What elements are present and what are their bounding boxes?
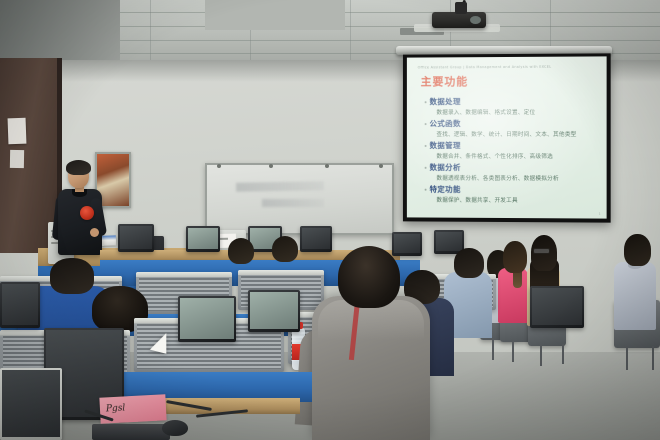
sticker-text: Pgsl xyxy=(106,403,126,414)
student-head xyxy=(454,248,484,278)
slide-content: Office Assistant Group | Data Management… xyxy=(407,56,607,218)
seated-person-head xyxy=(503,241,527,273)
seated-person-head xyxy=(624,234,651,266)
wall-notice-paper-secondary xyxy=(10,150,24,168)
projector-lens-icon xyxy=(470,16,481,24)
slide-section-detail: 查找、逻辑、数学、统计、日期时间、文本、其他类型 xyxy=(436,130,597,138)
monitor xyxy=(392,232,422,256)
monitor xyxy=(248,290,300,332)
whiteboard-erased-writing-secondary xyxy=(262,199,324,207)
slide-section-heading: 数据处理 xyxy=(430,96,461,107)
classroom-photo: Office Assistant Group | Data Management… xyxy=(0,0,660,440)
slide-section: 公式函数 查找、逻辑、数学、统计、日期时间、文本、其他类型 xyxy=(425,118,598,138)
shirt-logo-icon xyxy=(80,206,94,220)
slide-section-detail: 数据录入、数据编辑、格式设置、定位 xyxy=(436,108,597,116)
bullet-icon xyxy=(425,101,427,103)
slide-section-heading: 数据分析 xyxy=(430,162,461,173)
slide-section: 数据处理 数据录入、数据编辑、格式设置、定位 xyxy=(425,96,598,116)
whiteboard-erased-writing xyxy=(236,181,324,192)
computer-mouse[interactable] xyxy=(162,420,188,436)
slide-section-detail: 数据合并、条件格式、个性化排序、高级筛选 xyxy=(436,152,597,160)
student-head xyxy=(338,246,400,308)
monitor xyxy=(118,224,154,252)
bullet-icon xyxy=(425,144,427,146)
bullet-icon xyxy=(425,123,427,125)
monitor xyxy=(178,296,236,342)
slide-header-text: Office Assistant Group | Data Management… xyxy=(418,64,598,69)
monitor xyxy=(530,286,584,328)
monitor xyxy=(0,368,62,440)
student-head xyxy=(50,258,94,294)
keyboard[interactable] xyxy=(92,424,170,440)
seated-person-body xyxy=(614,262,656,330)
slide-section-detail: 数据透视表分析、各类图表分析、数据模拟分析 xyxy=(436,174,597,182)
monitor xyxy=(186,226,220,252)
bullet-icon xyxy=(425,188,427,190)
glasses-icon xyxy=(533,248,550,254)
slide-section: 特定功能 数据保护、数据共享、开发工具 xyxy=(425,184,598,205)
monitor xyxy=(300,226,332,252)
projected-slide: Office Assistant Group | Data Management… xyxy=(407,56,607,218)
slide-section-heading: 公式函数 xyxy=(430,118,461,129)
presenter-hand xyxy=(90,228,99,237)
slide-title: 主要功能 xyxy=(421,73,598,90)
slide-section-heading: 数据管理 xyxy=(430,140,461,151)
slide-page-number: 1 xyxy=(599,212,601,216)
ceiling-beam-left xyxy=(0,0,120,62)
wall-notice-paper xyxy=(8,118,27,145)
bullet-icon xyxy=(425,166,427,168)
slide-section: 数据分析 数据透视表分析、各类图表分析、数据模拟分析 xyxy=(425,162,598,182)
projector-bracket xyxy=(455,2,467,14)
ceiling-panel xyxy=(205,0,345,30)
slide-section: 数据管理 数据合并、条件格式、个性化排序、高级筛选 xyxy=(425,140,598,160)
slide-section-detail: 数据保护、数据共享、开发工具 xyxy=(436,196,597,205)
presenter-hair xyxy=(66,160,91,175)
slide-section-heading: 特定功能 xyxy=(430,184,461,195)
student-head xyxy=(228,238,254,264)
monitor xyxy=(0,282,40,328)
student-head xyxy=(272,236,298,262)
projection-screen: Office Assistant Group | Data Management… xyxy=(403,53,611,222)
